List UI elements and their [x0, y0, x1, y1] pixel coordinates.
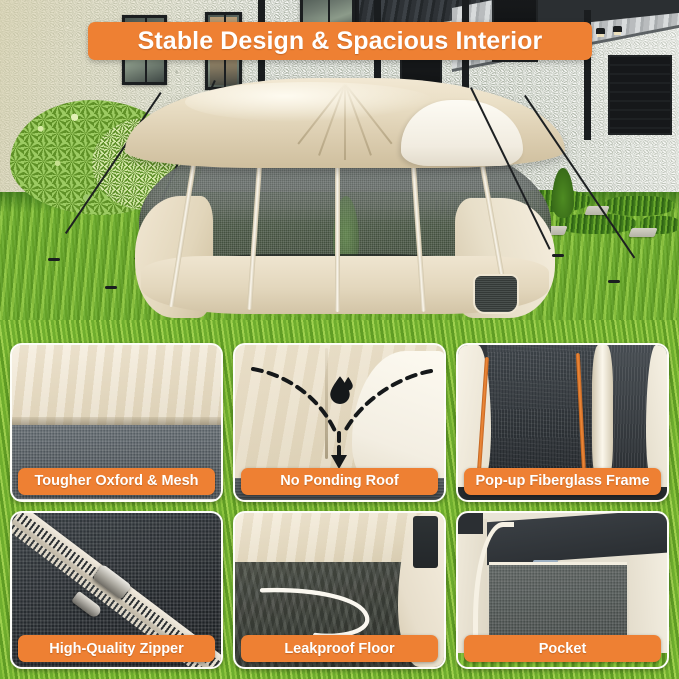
feature-label-bar: Leakproof Floor: [241, 635, 438, 662]
feature-label-text: High-Quality Zipper: [49, 641, 184, 657]
garage-door: [608, 55, 672, 135]
feature-label-bar: No Ponding Roof: [241, 468, 438, 495]
feature-card-pocket[interactable]: Pocket: [456, 511, 669, 670]
feature-label-bar: Pop-up Fiberglass Frame: [464, 468, 661, 495]
infographic-stage: Stable Design & Spacious Interior Toughe…: [0, 0, 679, 679]
feature-label-bar: Tougher Oxford & Mesh: [18, 468, 215, 495]
canopy-highlight: [185, 82, 435, 122]
oxford-fabric-swatch: [12, 345, 221, 425]
headline-text: Stable Design & Spacious Interior: [138, 27, 543, 56]
landscaping-bed: [556, 214, 636, 234]
feature-label-bar: Pocket: [464, 635, 661, 662]
landscaping-bed: [604, 196, 674, 216]
feature-label-text: Tougher Oxford & Mesh: [34, 473, 198, 489]
wall-lamp-icon: [596, 28, 605, 34]
feature-card-tougher-oxford-mesh[interactable]: Tougher Oxford & Mesh: [10, 343, 223, 502]
runoff-arrows-icon: [235, 345, 446, 481]
feature-label-bar: High-Quality Zipper: [18, 635, 215, 662]
feature-card-no-ponding-roof[interactable]: No Ponding Roof: [233, 343, 446, 502]
tent-door-mesh-window: [473, 274, 519, 314]
feature-label-text: Leakproof Floor: [284, 641, 394, 657]
floor-seam-highlight-icon: [252, 568, 402, 645]
feature-card-grid: Tougher Oxford & Mesh: [10, 343, 669, 669]
ground-stake: [552, 254, 564, 257]
hero-image: Stable Design & Spacious Interior: [0, 0, 679, 330]
pole-sleeve-middle: [592, 345, 613, 484]
feature-card-pop-up-fiberglass-frame[interactable]: Pop-up Fiberglass Frame: [456, 343, 669, 502]
ground-stake: [105, 286, 117, 289]
ground-stake: [608, 280, 620, 283]
pole-sleeve-right: [646, 345, 669, 487]
feature-card-high-quality-zipper[interactable]: High-Quality Zipper: [10, 511, 223, 670]
water-droplet-icon: [325, 374, 355, 404]
ground-stake: [48, 258, 60, 261]
feature-label-text: Pop-up Fiberglass Frame: [475, 473, 649, 489]
feature-card-leakproof-floor[interactable]: Leakproof Floor: [233, 511, 446, 670]
mesh-corner-dark: [458, 513, 483, 535]
feature-label-text: No Ponding Roof: [280, 473, 398, 489]
wall-lamp-icon: [613, 26, 622, 32]
feature-label-text: Pocket: [539, 641, 587, 657]
mesh-window-right: [413, 516, 438, 569]
stone-paver: [628, 228, 657, 237]
headline-banner: Stable Design & Spacious Interior: [88, 22, 592, 60]
screen-tent: [125, 78, 565, 318]
